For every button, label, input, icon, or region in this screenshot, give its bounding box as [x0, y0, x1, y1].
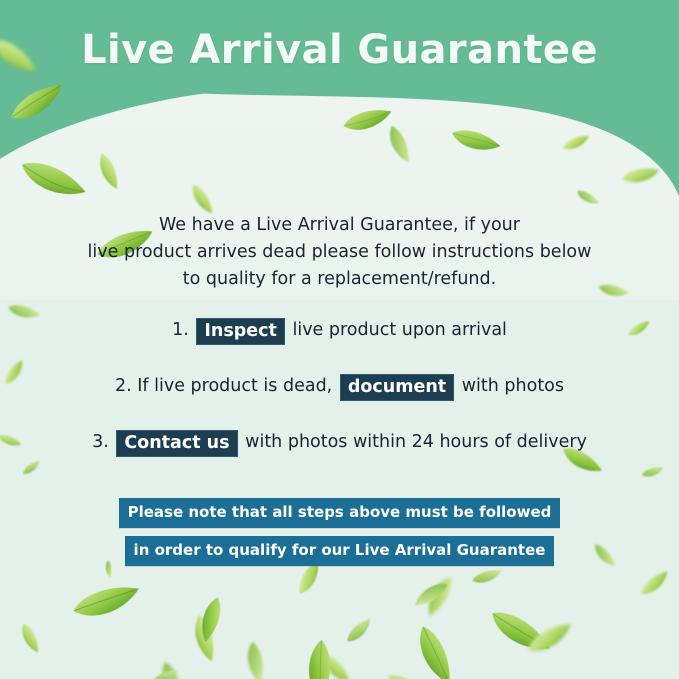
note-bar-line-1: Please note that all steps above must be…: [119, 498, 561, 528]
note-row-1: Please note that all steps above must be…: [0, 498, 679, 528]
note-row-2: in order to qualify for our Live Arrival…: [0, 536, 679, 566]
step-item-3: 3. Contact us with photos within 24 hour…: [0, 430, 679, 486]
note-block: Please note that all steps above must be…: [0, 498, 679, 574]
step-text-2-before: If live product is dead,: [137, 376, 332, 396]
step-highlight-inspect: Inspect: [196, 318, 285, 345]
step-highlight-document: document: [340, 374, 454, 401]
step-number-1: 1.: [172, 320, 189, 340]
step-text-2-after: with photos: [462, 376, 564, 396]
step-highlight-contact-us[interactable]: Contact us: [116, 430, 237, 457]
page-title: Live Arrival Guarantee: [0, 27, 679, 73]
step-number-2: 2.: [115, 376, 132, 396]
note-bar-line-2: in order to qualify for our Live Arrival…: [125, 536, 555, 566]
intro-line-1: We have a Live Arrival Guarantee, if you…: [50, 212, 629, 239]
step-item-1: 1. Inspect live product upon arrival: [0, 318, 679, 374]
live-arrival-guarantee-poster: Live Arrival Guarantee We have a Live Ar…: [0, 0, 679, 679]
steps-list: 1. Inspect live product upon arrival 2. …: [0, 318, 679, 486]
step-text-3: with photos within 24 hours of delivery: [245, 432, 587, 452]
step-item-2: 2. If live product is dead, document wit…: [0, 374, 679, 430]
intro-line-2: live product arrives dead please follow …: [50, 239, 629, 266]
step-text-1: live product upon arrival: [292, 320, 506, 340]
intro-paragraph: We have a Live Arrival Guarantee, if you…: [50, 212, 629, 293]
step-number-3: 3.: [92, 432, 109, 452]
intro-line-3: to quality for a replacement/refund.: [50, 266, 629, 293]
